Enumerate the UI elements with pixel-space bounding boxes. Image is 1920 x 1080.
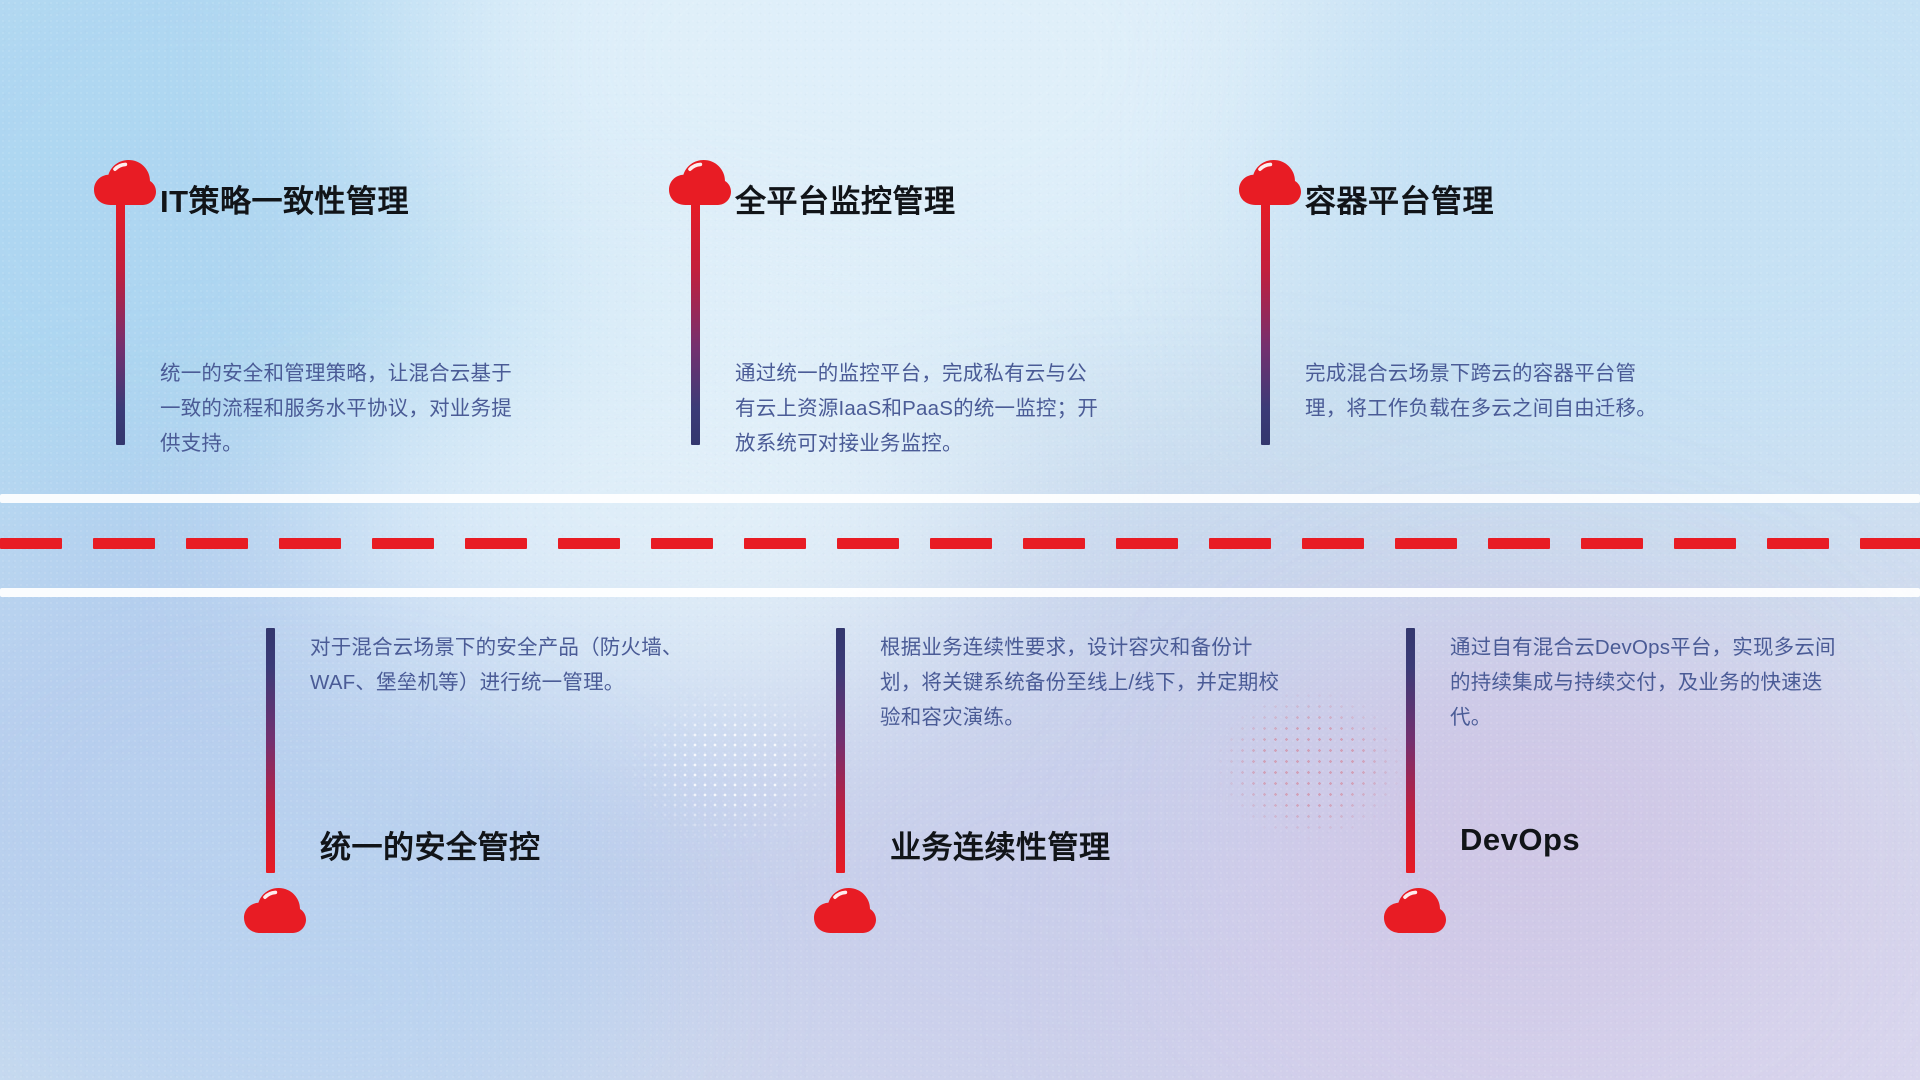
infographic-canvas: IT策略一致性管理 统一的安全和管理策略，让混合云基于一致的流程和服务水平协议，… <box>0 0 1920 1080</box>
background-speckle-white <box>620 680 850 850</box>
cloud-icon <box>94 160 156 206</box>
divider-dash <box>1581 538 1643 549</box>
divider-rail-top <box>0 494 1920 503</box>
connector-stem <box>1406 628 1415 873</box>
cloud-icon <box>244 888 306 934</box>
card-body: 通过统一的监控平台，完成私有云与公有云上资源IaaS和PaaS的统一监控；开放系… <box>735 356 1107 461</box>
card-heading: 容器平台管理 <box>1305 176 1494 221</box>
card-body: 统一的安全和管理策略，让混合云基于一致的流程和服务水平协议，对业务提供支持。 <box>160 356 532 461</box>
connector-stem <box>1261 200 1270 445</box>
cloud-icon <box>814 888 876 934</box>
card-heading: 全平台监控管理 <box>735 176 956 221</box>
divider-dash <box>1674 538 1736 549</box>
divider-dash <box>744 538 806 549</box>
divider-dash <box>1116 538 1178 549</box>
divider-dash <box>186 538 248 549</box>
divider-dash <box>1860 538 1920 549</box>
divider-dash <box>1395 538 1457 549</box>
dashed-road-line <box>0 538 1920 549</box>
card-body: 通过自有混合云DevOps平台，实现多云间的持续集成与持续交付，及业务的快速迭代… <box>1450 630 1850 735</box>
divider-dash <box>1302 538 1364 549</box>
connector-stem <box>116 200 125 445</box>
card-heading: 统一的安全管控 <box>320 822 541 867</box>
divider-dash <box>837 538 899 549</box>
divider-dash <box>279 538 341 549</box>
divider-rail-bottom <box>0 588 1920 597</box>
card-body: 对于混合云场景下的安全产品（防火墙、WAF、堡垒机等）进行统一管理。 <box>310 630 720 700</box>
divider-dash <box>0 538 62 549</box>
divider-dash <box>1209 538 1271 549</box>
card-heading: 业务连续性管理 <box>890 822 1111 867</box>
connector-stem <box>266 628 275 873</box>
divider-dash <box>465 538 527 549</box>
card-heading: IT策略一致性管理 <box>160 176 409 221</box>
divider-dash <box>651 538 713 549</box>
divider-dash <box>558 538 620 549</box>
divider-dash <box>1767 538 1829 549</box>
card-body: 根据业务连续性要求，设计容灾和备份计划，将关键系统备份至线上/线下，并定期校验和… <box>880 630 1290 735</box>
cloud-icon <box>1384 888 1446 934</box>
divider-dash <box>93 538 155 549</box>
cloud-icon <box>669 160 731 206</box>
connector-stem <box>836 628 845 873</box>
divider-dash <box>930 538 992 549</box>
divider-dash <box>1023 538 1085 549</box>
card-heading: DevOps <box>1460 822 1580 858</box>
divider-dash <box>1488 538 1550 549</box>
card-body: 完成混合云场景下跨云的容器平台管理，将工作负载在多云之间自由迁移。 <box>1305 356 1677 426</box>
divider-dash <box>372 538 434 549</box>
connector-stem <box>691 200 700 445</box>
cloud-icon <box>1239 160 1301 206</box>
